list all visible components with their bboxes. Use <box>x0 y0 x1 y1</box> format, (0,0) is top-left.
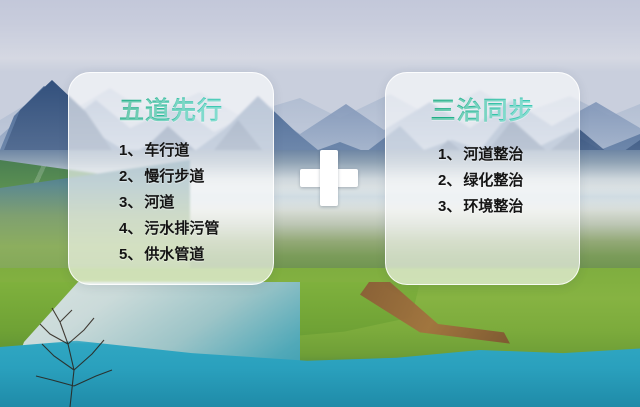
list-item-number: 1、 <box>119 142 142 159</box>
card-sanzhi-tongbu[interactable]: 三治同步 1、河道整治 2、绿化整治 3、环境整治 <box>385 72 580 285</box>
list-item-number: 3、 <box>119 194 142 211</box>
list-item: 3、环境整治 <box>438 199 579 214</box>
card-title-right: 三治同步 <box>386 91 579 127</box>
list-item-number: 2、 <box>119 168 142 185</box>
list-item: 2、绿化整治 <box>438 173 579 188</box>
list-item-label: 绿化整治 <box>463 172 523 189</box>
list-item-label: 车行道 <box>144 142 189 159</box>
bare-branches <box>30 300 160 407</box>
list-item: 1、河道整治 <box>438 147 579 162</box>
list-item-number: 1、 <box>438 146 461 163</box>
list-item-label: 污水排污管 <box>144 220 219 237</box>
card-list-left: 1、车行道 2、慢行步道 3、河道 4、污水排污管 5、供水管道 <box>69 143 273 262</box>
plus-vertical-bar <box>320 150 338 206</box>
list-item-label: 慢行步道 <box>144 168 204 185</box>
list-item-number: 5、 <box>119 246 142 263</box>
infographic-slide: 五道先行 1、车行道 2、慢行步道 3、河道 4、污水排污管 5、供水管道 三治… <box>0 0 640 407</box>
list-item: 4、污水排污管 <box>119 221 273 236</box>
list-item: 3、河道 <box>119 195 273 210</box>
list-item: 5、供水管道 <box>119 247 273 262</box>
card-wudao-xianxing[interactable]: 五道先行 1、车行道 2、慢行步道 3、河道 4、污水排污管 5、供水管道 <box>68 72 274 285</box>
list-item-number: 4、 <box>119 220 142 237</box>
list-item-label: 河道整治 <box>463 146 523 163</box>
list-item-number: 2、 <box>438 172 461 189</box>
list-item-number: 3、 <box>438 198 461 215</box>
card-list-right: 1、河道整治 2、绿化整治 3、环境整治 <box>386 147 579 214</box>
list-item-label: 环境整治 <box>463 198 523 215</box>
plus-icon <box>300 150 358 206</box>
list-item: 2、慢行步道 <box>119 169 273 184</box>
card-title-left: 五道先行 <box>69 91 273 127</box>
list-item-label: 供水管道 <box>144 246 204 263</box>
list-item: 1、车行道 <box>119 143 273 158</box>
list-item-label: 河道 <box>144 194 174 211</box>
